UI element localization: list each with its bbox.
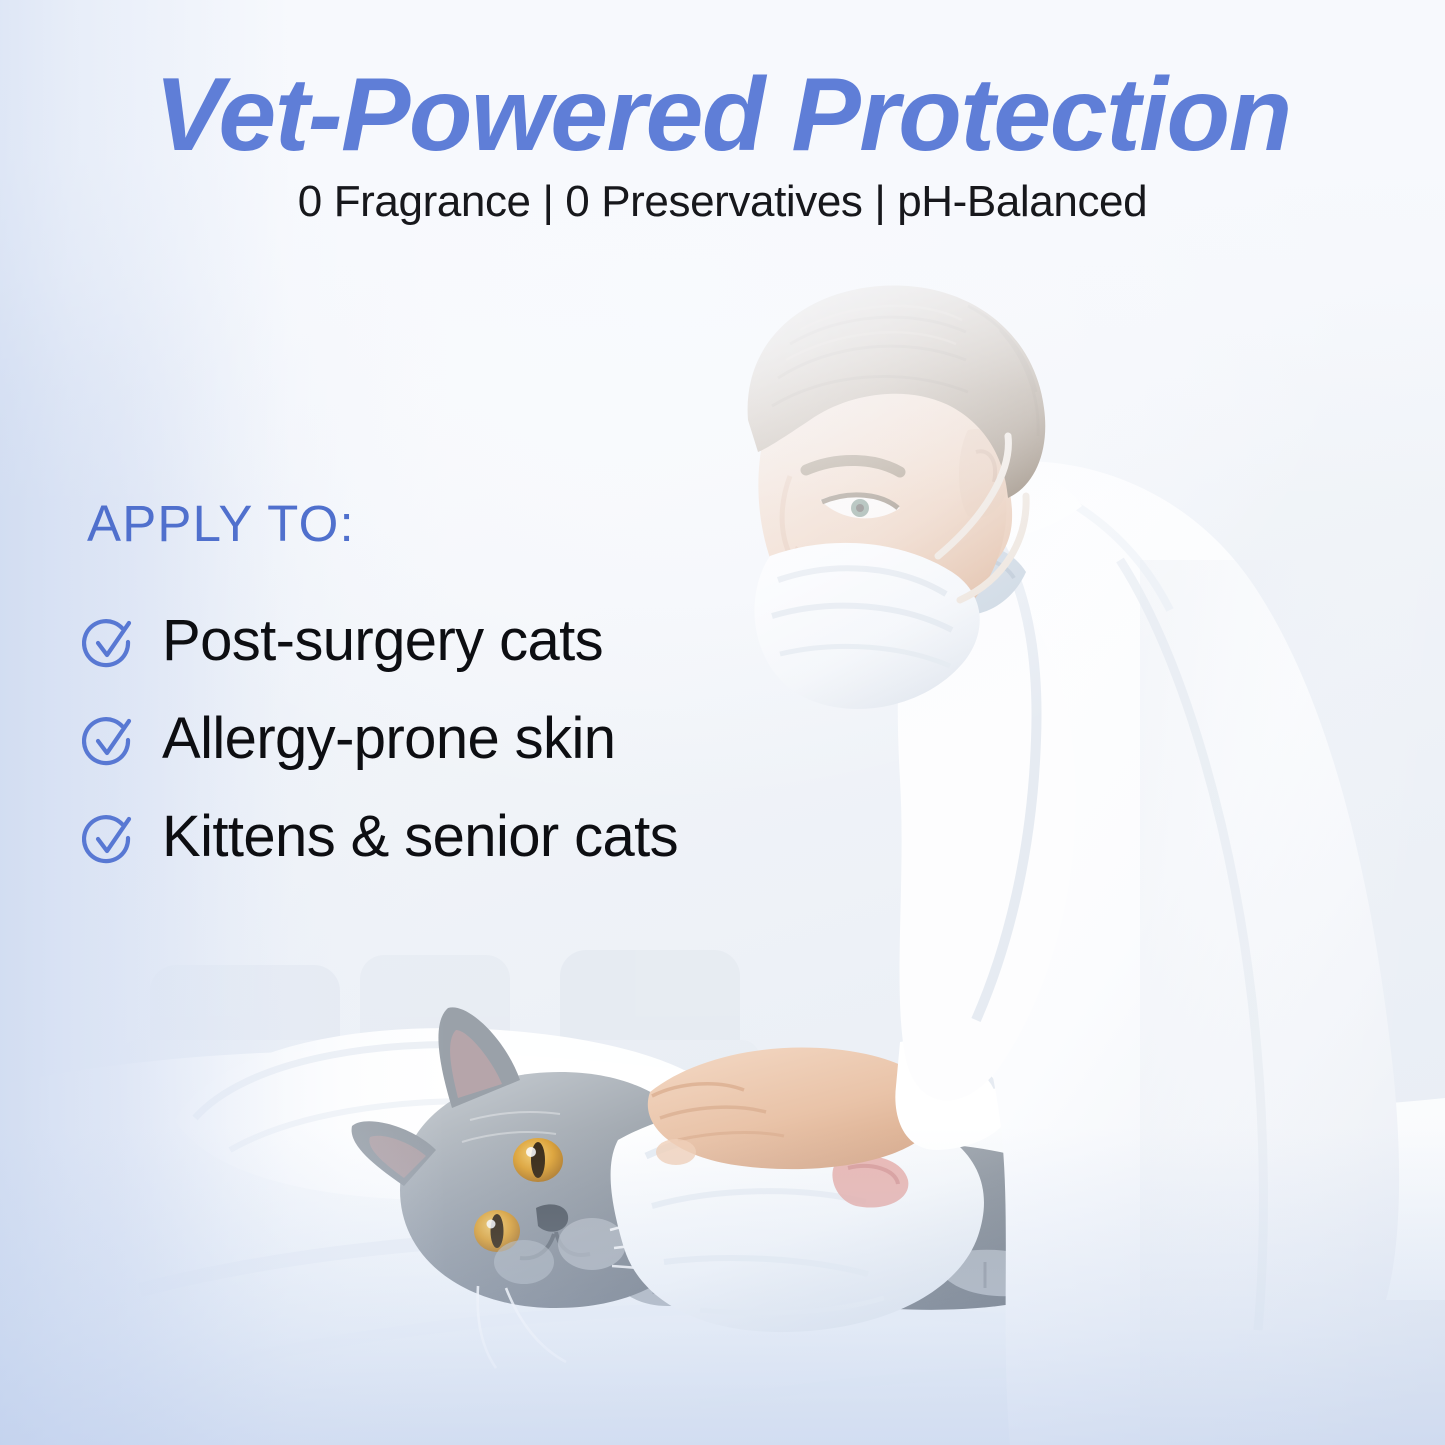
page-subtitle: 0 Fragrance | 0 Preservatives | pH-Balan… (0, 174, 1445, 230)
apply-to-list: Post-surgery cats Allergy-prone skin (82, 592, 678, 886)
list-item-label: Post-surgery cats (162, 610, 603, 672)
check-circle-icon (82, 714, 136, 768)
check-circle-icon (82, 616, 136, 670)
list-item: Post-surgery cats (82, 592, 678, 690)
check-circle-icon (82, 812, 136, 866)
infographic-canvas: Vet-Powered Protection 0 Fragrance | 0 P… (0, 0, 1445, 1445)
text-layer: Vet-Powered Protection 0 Fragrance | 0 P… (0, 0, 1445, 1445)
list-item: Kittens & senior cats (82, 788, 678, 886)
apply-to-heading: APPLY TO: (87, 494, 355, 554)
list-item-label: Allergy-prone skin (162, 708, 615, 770)
list-item-label: Kittens & senior cats (162, 806, 678, 868)
list-item: Allergy-prone skin (82, 690, 678, 788)
page-title: Vet-Powered Protection (0, 60, 1445, 170)
